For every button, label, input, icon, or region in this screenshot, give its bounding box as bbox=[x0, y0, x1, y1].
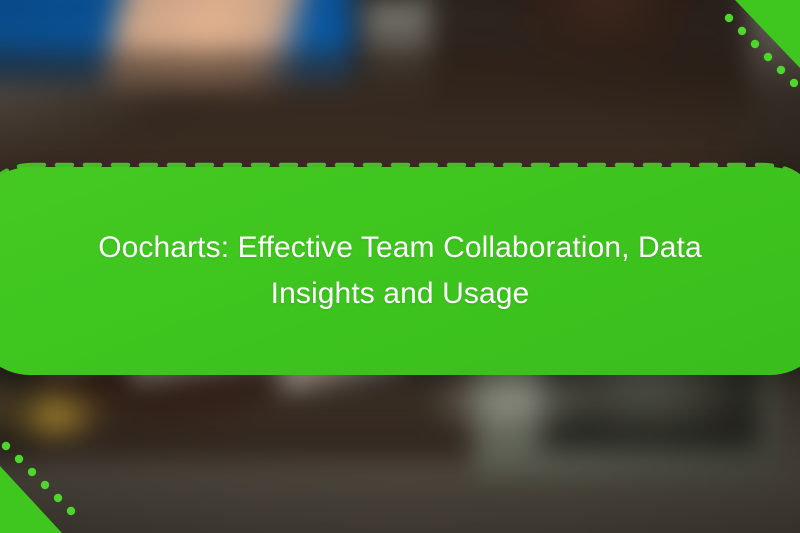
title-card: Oocharts: Effective Team Collaboration, … bbox=[0, 167, 800, 375]
page-title: Oocharts: Effective Team Collaboration, … bbox=[70, 225, 730, 316]
hero-banner: Oocharts: Effective Team Collaboration, … bbox=[0, 0, 800, 533]
